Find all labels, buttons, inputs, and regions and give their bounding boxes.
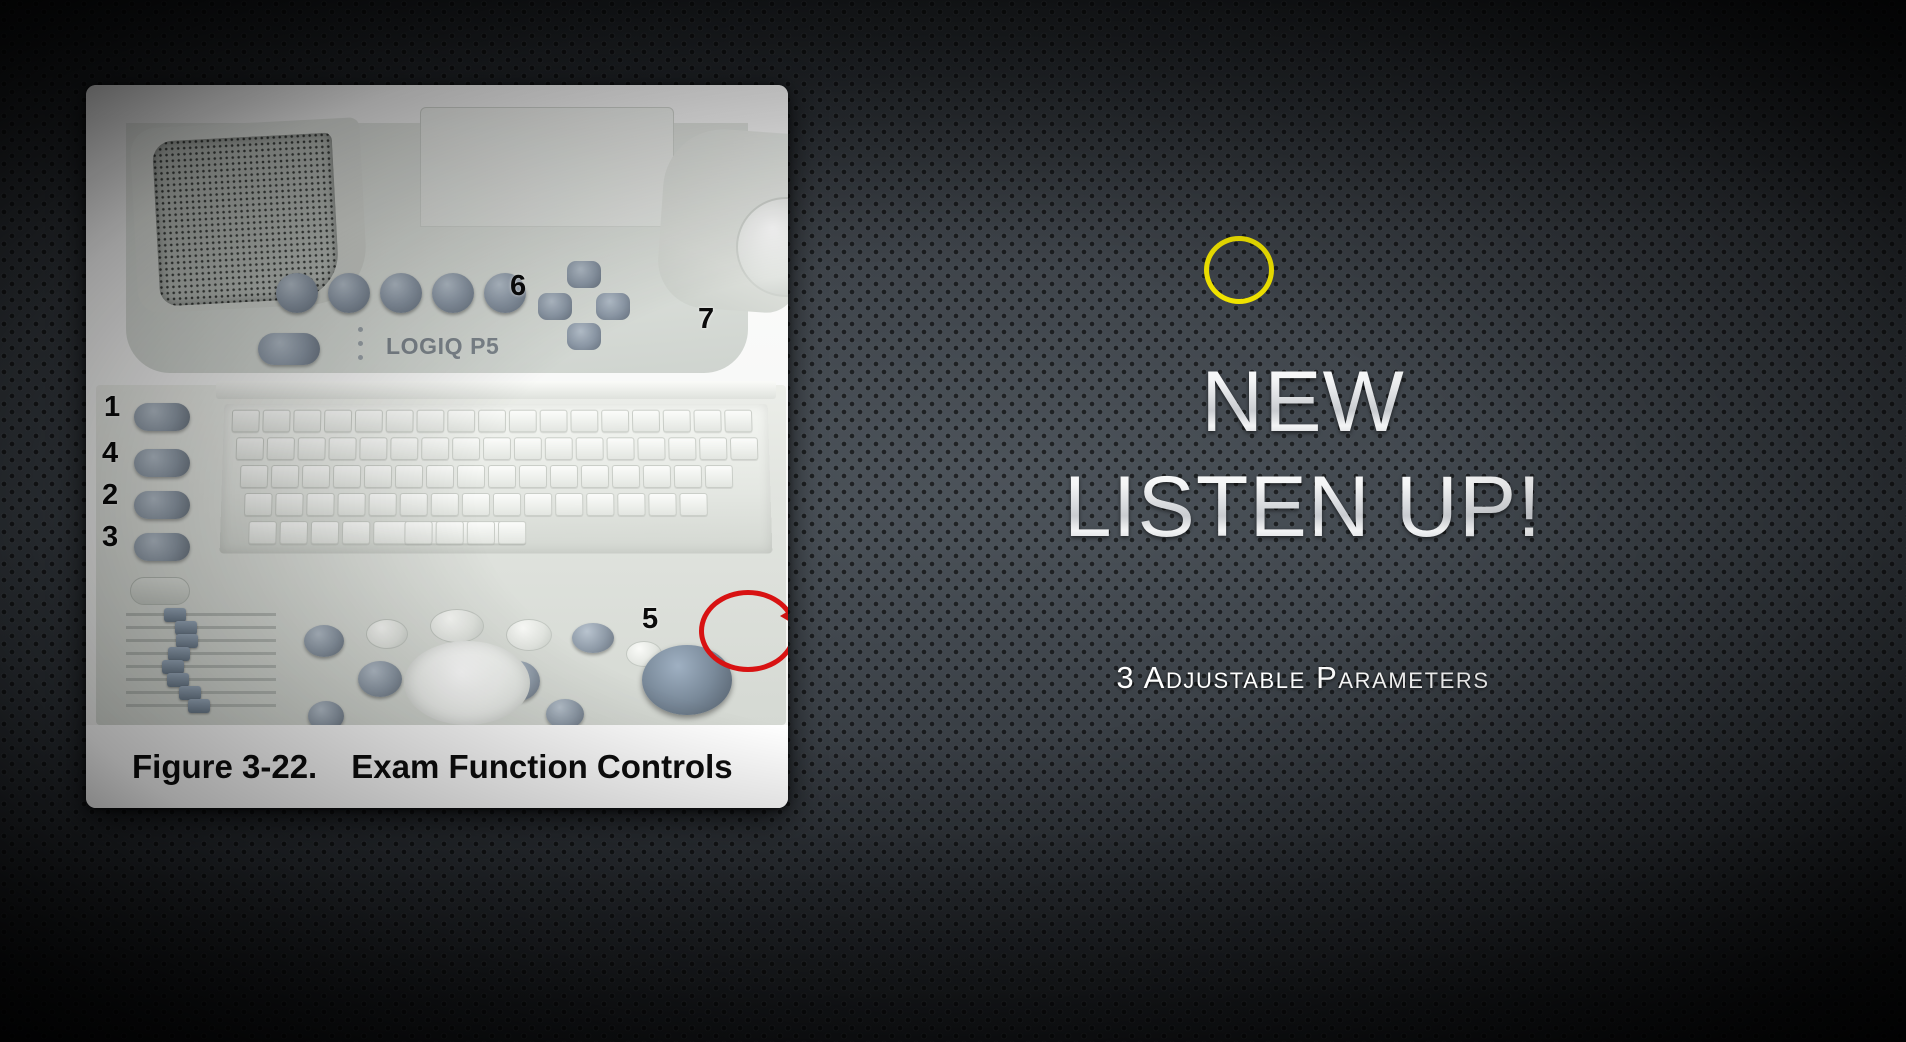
left-button-gray[interactable] (130, 577, 190, 605)
keyboard-key[interactable] (679, 493, 708, 516)
top-knob-2[interactable] (328, 273, 370, 313)
figure-caption-number: Figure 3-22. (132, 748, 317, 786)
tgc-slider-knob[interactable] (167, 673, 189, 687)
keyboard-key[interactable] (693, 410, 721, 433)
keyboard-key[interactable] (447, 410, 475, 433)
keyboard-key[interactable] (337, 493, 365, 516)
keyboard-key[interactable] (231, 410, 259, 433)
left-button-1[interactable] (134, 403, 190, 431)
keyboard-key[interactable] (386, 410, 414, 433)
tgc-slider-knob[interactable] (175, 621, 197, 635)
keyboard-key[interactable] (457, 465, 485, 488)
keyboard-key[interactable] (293, 410, 321, 433)
red-highlight-circle (699, 590, 788, 672)
keyboard-key[interactable] (493, 493, 521, 516)
keyboard-key[interactable] (426, 465, 454, 488)
keyboard-key[interactable] (240, 465, 269, 488)
keyboard-key[interactable] (637, 437, 665, 460)
tgc-slider-knob[interactable] (176, 634, 198, 648)
tgc-slider-knob[interactable] (162, 660, 184, 674)
control-knob-e[interactable] (572, 623, 614, 653)
trackball[interactable] (404, 641, 530, 725)
keyboard-key[interactable] (266, 437, 294, 460)
keyboard-key[interactable] (668, 437, 696, 460)
tgc-slider-knob[interactable] (168, 647, 190, 661)
tgc-slider-track (126, 639, 276, 642)
console-keyboard[interactable] (220, 404, 773, 554)
callout-2: 2 (102, 479, 118, 512)
tgc-slider-knob[interactable] (164, 608, 186, 622)
keyboard-key[interactable] (643, 465, 671, 488)
callout-3: 3 (102, 521, 118, 554)
control-knob-i[interactable] (308, 701, 344, 725)
keyboard-key[interactable] (364, 465, 392, 488)
keyboard-key[interactable] (498, 521, 526, 544)
keyboard-key[interactable] (524, 493, 552, 516)
text-column: NEW LISTEN UP! 3 Adjustable Parameters (880, 0, 1906, 1042)
tgc-slider-bank[interactable] (126, 613, 276, 721)
slide-subtitle: 3 Adjustable Parameters (880, 660, 1906, 696)
keyboard-key[interactable] (581, 465, 609, 488)
keyboard-key[interactable] (236, 437, 265, 460)
keyboard-key[interactable] (570, 410, 598, 433)
tgc-slider-track (126, 691, 276, 694)
keyboard-key[interactable] (311, 521, 340, 544)
dpad-right-icon[interactable] (596, 293, 630, 320)
top-knob-4[interactable] (432, 273, 474, 313)
keyboard-key[interactable] (663, 410, 691, 433)
keyboard-key[interactable] (431, 493, 459, 516)
callout-6: 6 (510, 270, 526, 303)
keyboard-key[interactable] (617, 493, 645, 516)
tgc-slider-knob[interactable] (179, 686, 201, 700)
yellow-circle-accent-icon (1204, 236, 1274, 304)
title-line-2: LISTEN UP! (880, 455, 1726, 560)
keyboard-key[interactable] (550, 465, 578, 488)
control-knob-a[interactable] (304, 625, 344, 657)
keyboard-key[interactable] (452, 437, 480, 460)
keyboard-key[interactable] (324, 410, 352, 433)
left-button-4[interactable] (134, 449, 190, 477)
dpad-up-icon[interactable] (567, 261, 601, 288)
slide-canvas: LOGIQ P5 1 4 2 3 (0, 0, 1906, 1042)
top-knob-3[interactable] (380, 273, 422, 313)
keyboard-key[interactable] (275, 493, 304, 516)
control-button-c[interactable] (430, 609, 484, 643)
keyboard-key[interactable] (328, 437, 356, 460)
ultrasound-console-photo: LOGIQ P5 1 4 2 3 (86, 85, 788, 725)
indicator-leds (358, 327, 364, 369)
directional-pad[interactable] (538, 261, 630, 353)
figure-image-card[interactable]: LOGIQ P5 1 4 2 3 (86, 85, 788, 808)
keyboard-key[interactable] (368, 493, 396, 516)
keyboard-key[interactable] (390, 437, 418, 460)
keyboard-key[interactable] (244, 493, 273, 516)
keyboard-key[interactable] (404, 521, 432, 544)
keyboard-key[interactable] (586, 493, 614, 516)
monitor-stem (420, 107, 674, 227)
keyboard-key[interactable] (606, 437, 634, 460)
keyboard-key[interactable] (359, 437, 387, 460)
keyboard-key[interactable] (395, 465, 423, 488)
keyboard-key[interactable] (333, 465, 361, 488)
slide-title: NEW LISTEN UP! (880, 350, 1906, 560)
keyboard-key[interactable] (674, 465, 703, 488)
control-knob-j[interactable] (546, 699, 584, 725)
keyboard-key[interactable] (279, 521, 308, 544)
keyboard-key[interactable] (648, 493, 677, 516)
device-brand-label: LOGIQ P5 (386, 333, 499, 360)
keyboard-key[interactable] (545, 437, 573, 460)
keyboard-key[interactable] (436, 521, 464, 544)
left-button-3[interactable] (134, 533, 190, 561)
callout-7: 7 (698, 303, 714, 336)
keyboard-key[interactable] (632, 410, 660, 433)
keyboard-key[interactable] (306, 493, 335, 516)
keyboard-key[interactable] (576, 437, 604, 460)
callout-4: 4 (102, 437, 118, 470)
keyboard-key[interactable] (478, 410, 506, 433)
tgc-slider-track (126, 613, 276, 616)
freeze-button[interactable] (258, 333, 320, 365)
dpad-down-icon[interactable] (567, 323, 601, 350)
tgc-slider-track (126, 652, 276, 655)
keyboard-key[interactable] (488, 465, 516, 488)
keyboard-key[interactable] (400, 493, 428, 516)
top-knob-1[interactable] (276, 273, 318, 313)
tgc-slider-knob[interactable] (188, 699, 210, 713)
keyboard-key[interactable] (601, 410, 629, 433)
keyboard-key[interactable] (540, 410, 568, 433)
keyboard-key[interactable] (699, 437, 727, 460)
keyboard-key[interactable] (730, 437, 759, 460)
control-knob-f[interactable] (358, 661, 402, 697)
keyboard-key[interactable] (342, 521, 371, 544)
keyboard-key[interactable] (271, 465, 300, 488)
keyboard-key[interactable] (483, 437, 511, 460)
keyboard-key[interactable] (509, 410, 537, 433)
dpad-left-icon[interactable] (538, 293, 572, 320)
keyboard-key[interactable] (462, 493, 490, 516)
keyboard-key[interactable] (302, 465, 330, 488)
callout-5: 5 (642, 603, 658, 636)
keyboard-key[interactable] (262, 410, 290, 433)
tgc-slider-track (126, 678, 276, 681)
tgc-slider-track (126, 665, 276, 668)
keyboard-shelf (216, 381, 776, 399)
keyboard-key[interactable] (355, 410, 383, 433)
keyboard-key[interactable] (724, 410, 752, 433)
left-button-2[interactable] (134, 491, 190, 519)
keyboard-key[interactable] (705, 465, 734, 488)
callout-1: 1 (104, 391, 120, 424)
figure-caption-text: Exam Function Controls (351, 748, 732, 786)
keyboard-key[interactable] (416, 410, 444, 433)
control-button-d[interactable] (506, 619, 552, 651)
figure-caption: Figure 3-22. Exam Function Controls (86, 725, 788, 808)
keyboard-key[interactable] (421, 437, 449, 460)
tgc-slider-track (126, 626, 276, 629)
keyboard-key[interactable] (612, 465, 640, 488)
keyboard-key[interactable] (519, 465, 547, 488)
keyboard-key[interactable] (248, 521, 277, 544)
keyboard-key[interactable] (297, 437, 325, 460)
keyboard-key[interactable] (514, 437, 542, 460)
control-button-b[interactable] (366, 619, 408, 649)
keyboard-key[interactable] (467, 521, 495, 544)
title-line-1: NEW (880, 350, 1726, 455)
red-arrow-head-icon (780, 604, 788, 628)
keyboard-key[interactable] (555, 493, 583, 516)
